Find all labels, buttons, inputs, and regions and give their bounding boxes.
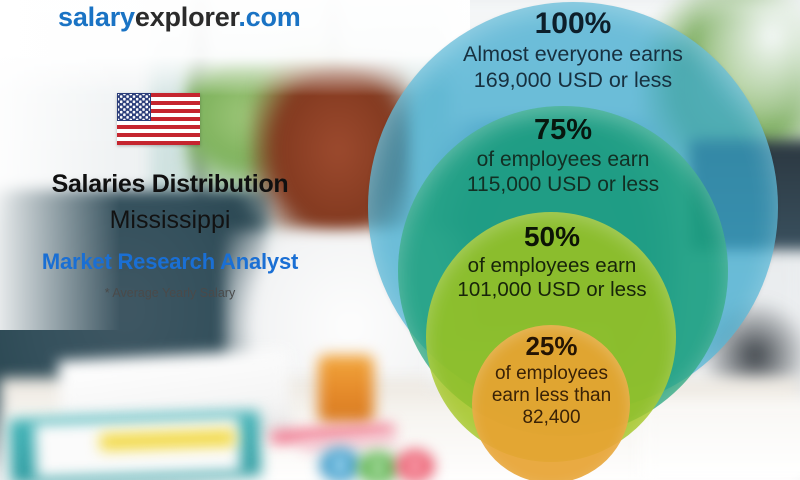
caption-25-line3: 82,400: [474, 407, 629, 429]
caption-100-line2: 169,000 USD or less: [383, 68, 763, 93]
percentile-circles-chart: 100% Almost everyone earns 169,000 USD o…: [0, 0, 800, 480]
label-75-percent: 75% of employees earn 115,000 USD or les…: [405, 113, 721, 198]
caption-25-line1: of employees: [474, 363, 629, 385]
caption-50-line1: of employees earn: [432, 254, 672, 278]
label-50-percent: 50% of employees earn 101,000 USD or les…: [432, 220, 672, 302]
percent-value-50: 50%: [432, 220, 672, 253]
percent-value-75: 75%: [405, 113, 721, 147]
label-25-percent: 25% of employees earn less than 82,400: [474, 331, 629, 430]
caption-50-line2: 101,000 USD or less: [432, 278, 672, 302]
label-100-percent: 100% Almost everyone earns 169,000 USD o…: [383, 6, 763, 93]
caption-75-line1: of employees earn: [405, 148, 721, 173]
caption-25-line2: earn less than: [474, 385, 629, 407]
caption-100-line1: Almost everyone earns: [383, 42, 763, 67]
percent-value-100: 100%: [383, 6, 763, 41]
infographic-canvas: salaryexplorer.com Salaries Distribution…: [0, 0, 800, 480]
percent-value-25: 25%: [474, 331, 629, 362]
caption-75-line2: 115,000 USD or less: [405, 173, 721, 198]
